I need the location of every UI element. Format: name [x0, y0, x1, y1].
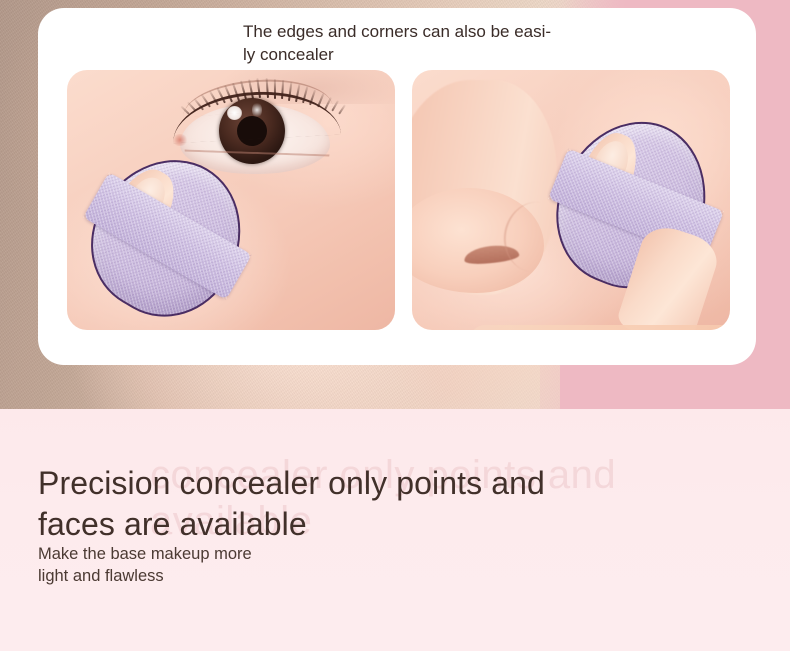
eyelash	[317, 93, 325, 107]
product-promo-image: concealer only points and available The …	[0, 0, 790, 651]
eyelash	[187, 102, 197, 112]
photo-eye-application: Dark circles, tear grooves, etc	[67, 70, 395, 330]
eyelash	[281, 80, 284, 99]
card-title: The edges and corners can also be easi- …	[88, 20, 708, 66]
caption-nose: Nose Alar, French striation, acne, etc.	[470, 325, 730, 330]
eyelash	[309, 90, 316, 106]
eyelash	[331, 100, 339, 112]
eyelash	[216, 88, 225, 104]
eyelash	[194, 98, 204, 110]
info-card: The edges and corners can also be easi- …	[38, 8, 756, 365]
eyelash	[324, 97, 332, 110]
eyelash	[295, 84, 300, 102]
eyelash	[274, 79, 276, 99]
eyelash	[232, 82, 240, 100]
eyelash	[180, 106, 189, 115]
photo-nose-application: Nose Alar, French striation, acne, etc.	[412, 70, 730, 330]
eyelashes	[174, 84, 350, 124]
promo-subline: Make the base makeup more light and flaw…	[38, 543, 498, 587]
promo-headline: Precision concealer only points and face…	[38, 463, 678, 545]
eyelash	[240, 80, 247, 99]
eyelash	[302, 86, 308, 103]
eyelash	[201, 94, 211, 107]
eyelash	[224, 85, 233, 102]
eyelash	[338, 104, 346, 114]
eyelash	[209, 91, 219, 106]
eyelash	[288, 82, 292, 101]
